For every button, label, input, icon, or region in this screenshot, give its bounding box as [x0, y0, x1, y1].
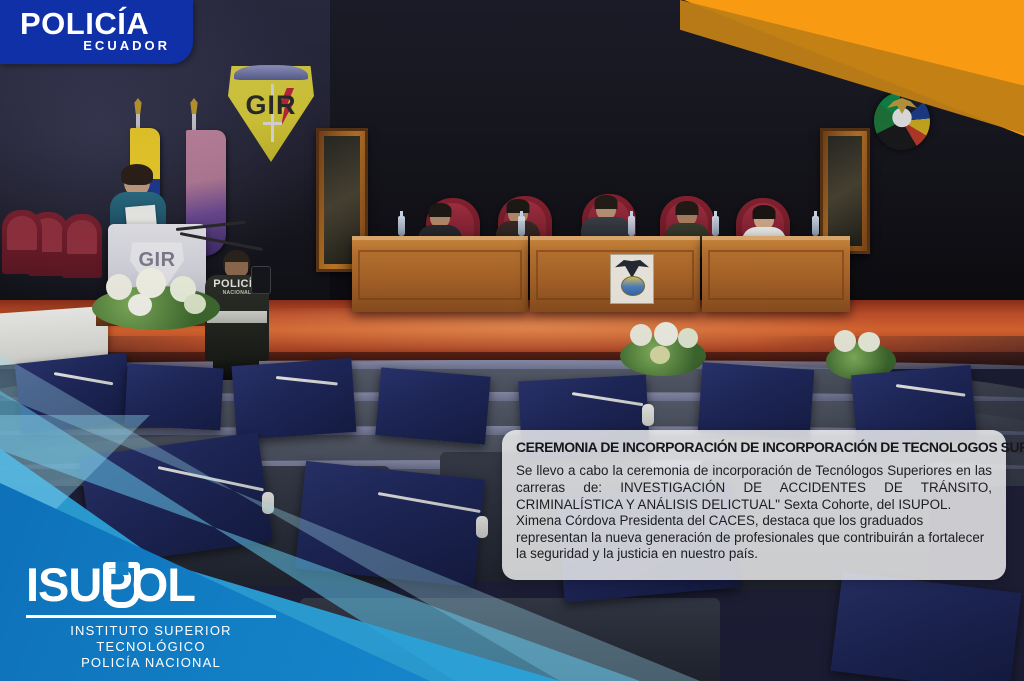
- isupol-shield-icon: [103, 562, 140, 608]
- isupol-subtitle-line2: POLICÍA NACIONAL: [26, 655, 276, 671]
- caption-panel: CEREMONIA DE INCORPORACIÓN DE INCORPORAC…: [502, 430, 1006, 580]
- policia-ecuador-banner: POLICÍA ECUADOR: [0, 0, 193, 64]
- caption-paragraph-1: Se llevo a cabo la ceremonia de incorpor…: [516, 463, 992, 513]
- caption-headline: CEREMONIA DE INCORPORACIÓN DE INCORPORAC…: [516, 440, 985, 456]
- isupol-subtitle-line1: INSTITUTO SUPERIOR TECNOLÓGICO: [26, 623, 276, 655]
- isupol-wordmark-row: ISUPOL: [26, 558, 276, 612]
- policia-wordmark: POLICÍA: [20, 8, 149, 39]
- isupol-logo: ISUPOL INSTITUTO SUPERIOR TECNOLÓGICO PO…: [26, 558, 276, 671]
- poster-canvas: GIR: [0, 0, 1024, 681]
- isupol-divider: [26, 615, 276, 618]
- caption-body: Se llevo a cabo la ceremonia de incorpor…: [516, 463, 992, 563]
- ecuador-wordmark: ECUADOR: [83, 39, 170, 52]
- caption-paragraph-2: Ximena Córdova Presidenta del CACES, des…: [516, 513, 992, 563]
